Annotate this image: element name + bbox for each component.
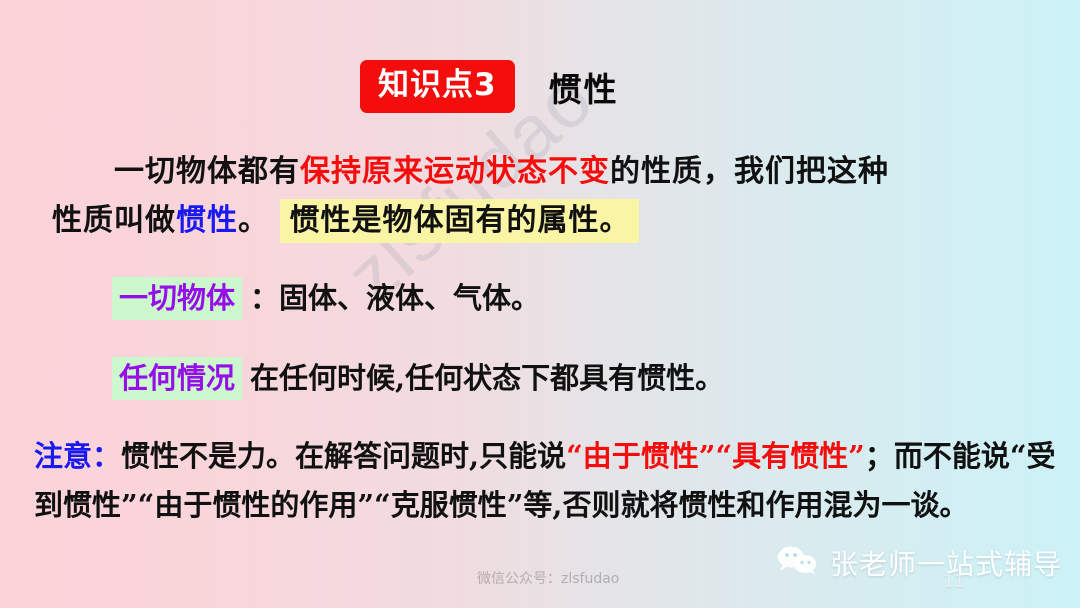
tag-any-case: 任何情况 — [112, 357, 242, 400]
note-label: 注意： — [34, 439, 121, 473]
point-all-objects-text: ：固体、液体、气体。 — [250, 281, 540, 315]
tag-all-objects: 一切物体 — [112, 277, 242, 320]
title-row: 知识点3 惯性 — [360, 60, 619, 113]
definition-part-f: 。 — [238, 203, 269, 238]
definition-paragraph: 一切物体都有保持原来运动状态不变的性质，我们把这种 性质叫做惯性。 惯性是物体固… — [52, 148, 1032, 245]
page-number: 11 — [943, 572, 965, 592]
wechat-icon — [776, 545, 820, 582]
point-any-case-text: 在任何时候,任何状态下都具有惯性。 — [250, 361, 724, 395]
note-seg1: 惯性不是力。在解答问题时,只能说 — [121, 439, 566, 473]
definition-part-d: 性质叫做 — [52, 203, 176, 238]
definition-part-e-blue: 惯性 — [176, 203, 238, 238]
brand-footer: 张老师一站式辅导 — [776, 543, 1062, 583]
slide-canvas: zlsfudao 知识点3 惯性 一切物体都有保持原来运动状态不变的性质，我们把… — [0, 0, 1080, 608]
definition-part-b-red: 保持原来运动状态不变 — [300, 154, 610, 189]
inherent-property-highlight: 惯性是物体固有的属性。 — [280, 199, 639, 243]
note-paragraph: 注意：惯性不是力。在解答问题时,只能说“由于惯性”“具有惯性”；而不能说“受到惯… — [34, 432, 1064, 531]
small-watermark: 微信公众号：zlsfudao — [477, 568, 619, 588]
knowledge-point-badge: 知识点3 — [360, 60, 515, 113]
note-seg2-red: “由于惯性”“具有惯性” — [566, 439, 865, 473]
page-title: 惯性 — [549, 63, 619, 111]
point-any-case: 任何情况在任何时候,任何状态下都具有惯性。 — [112, 355, 724, 397]
definition-part-a: 一切物体都有 — [114, 154, 300, 189]
definition-part-c: 的性质，我们把这种 — [610, 154, 889, 189]
point-all-objects: 一切物体：固体、液体、气体。 — [112, 275, 540, 317]
